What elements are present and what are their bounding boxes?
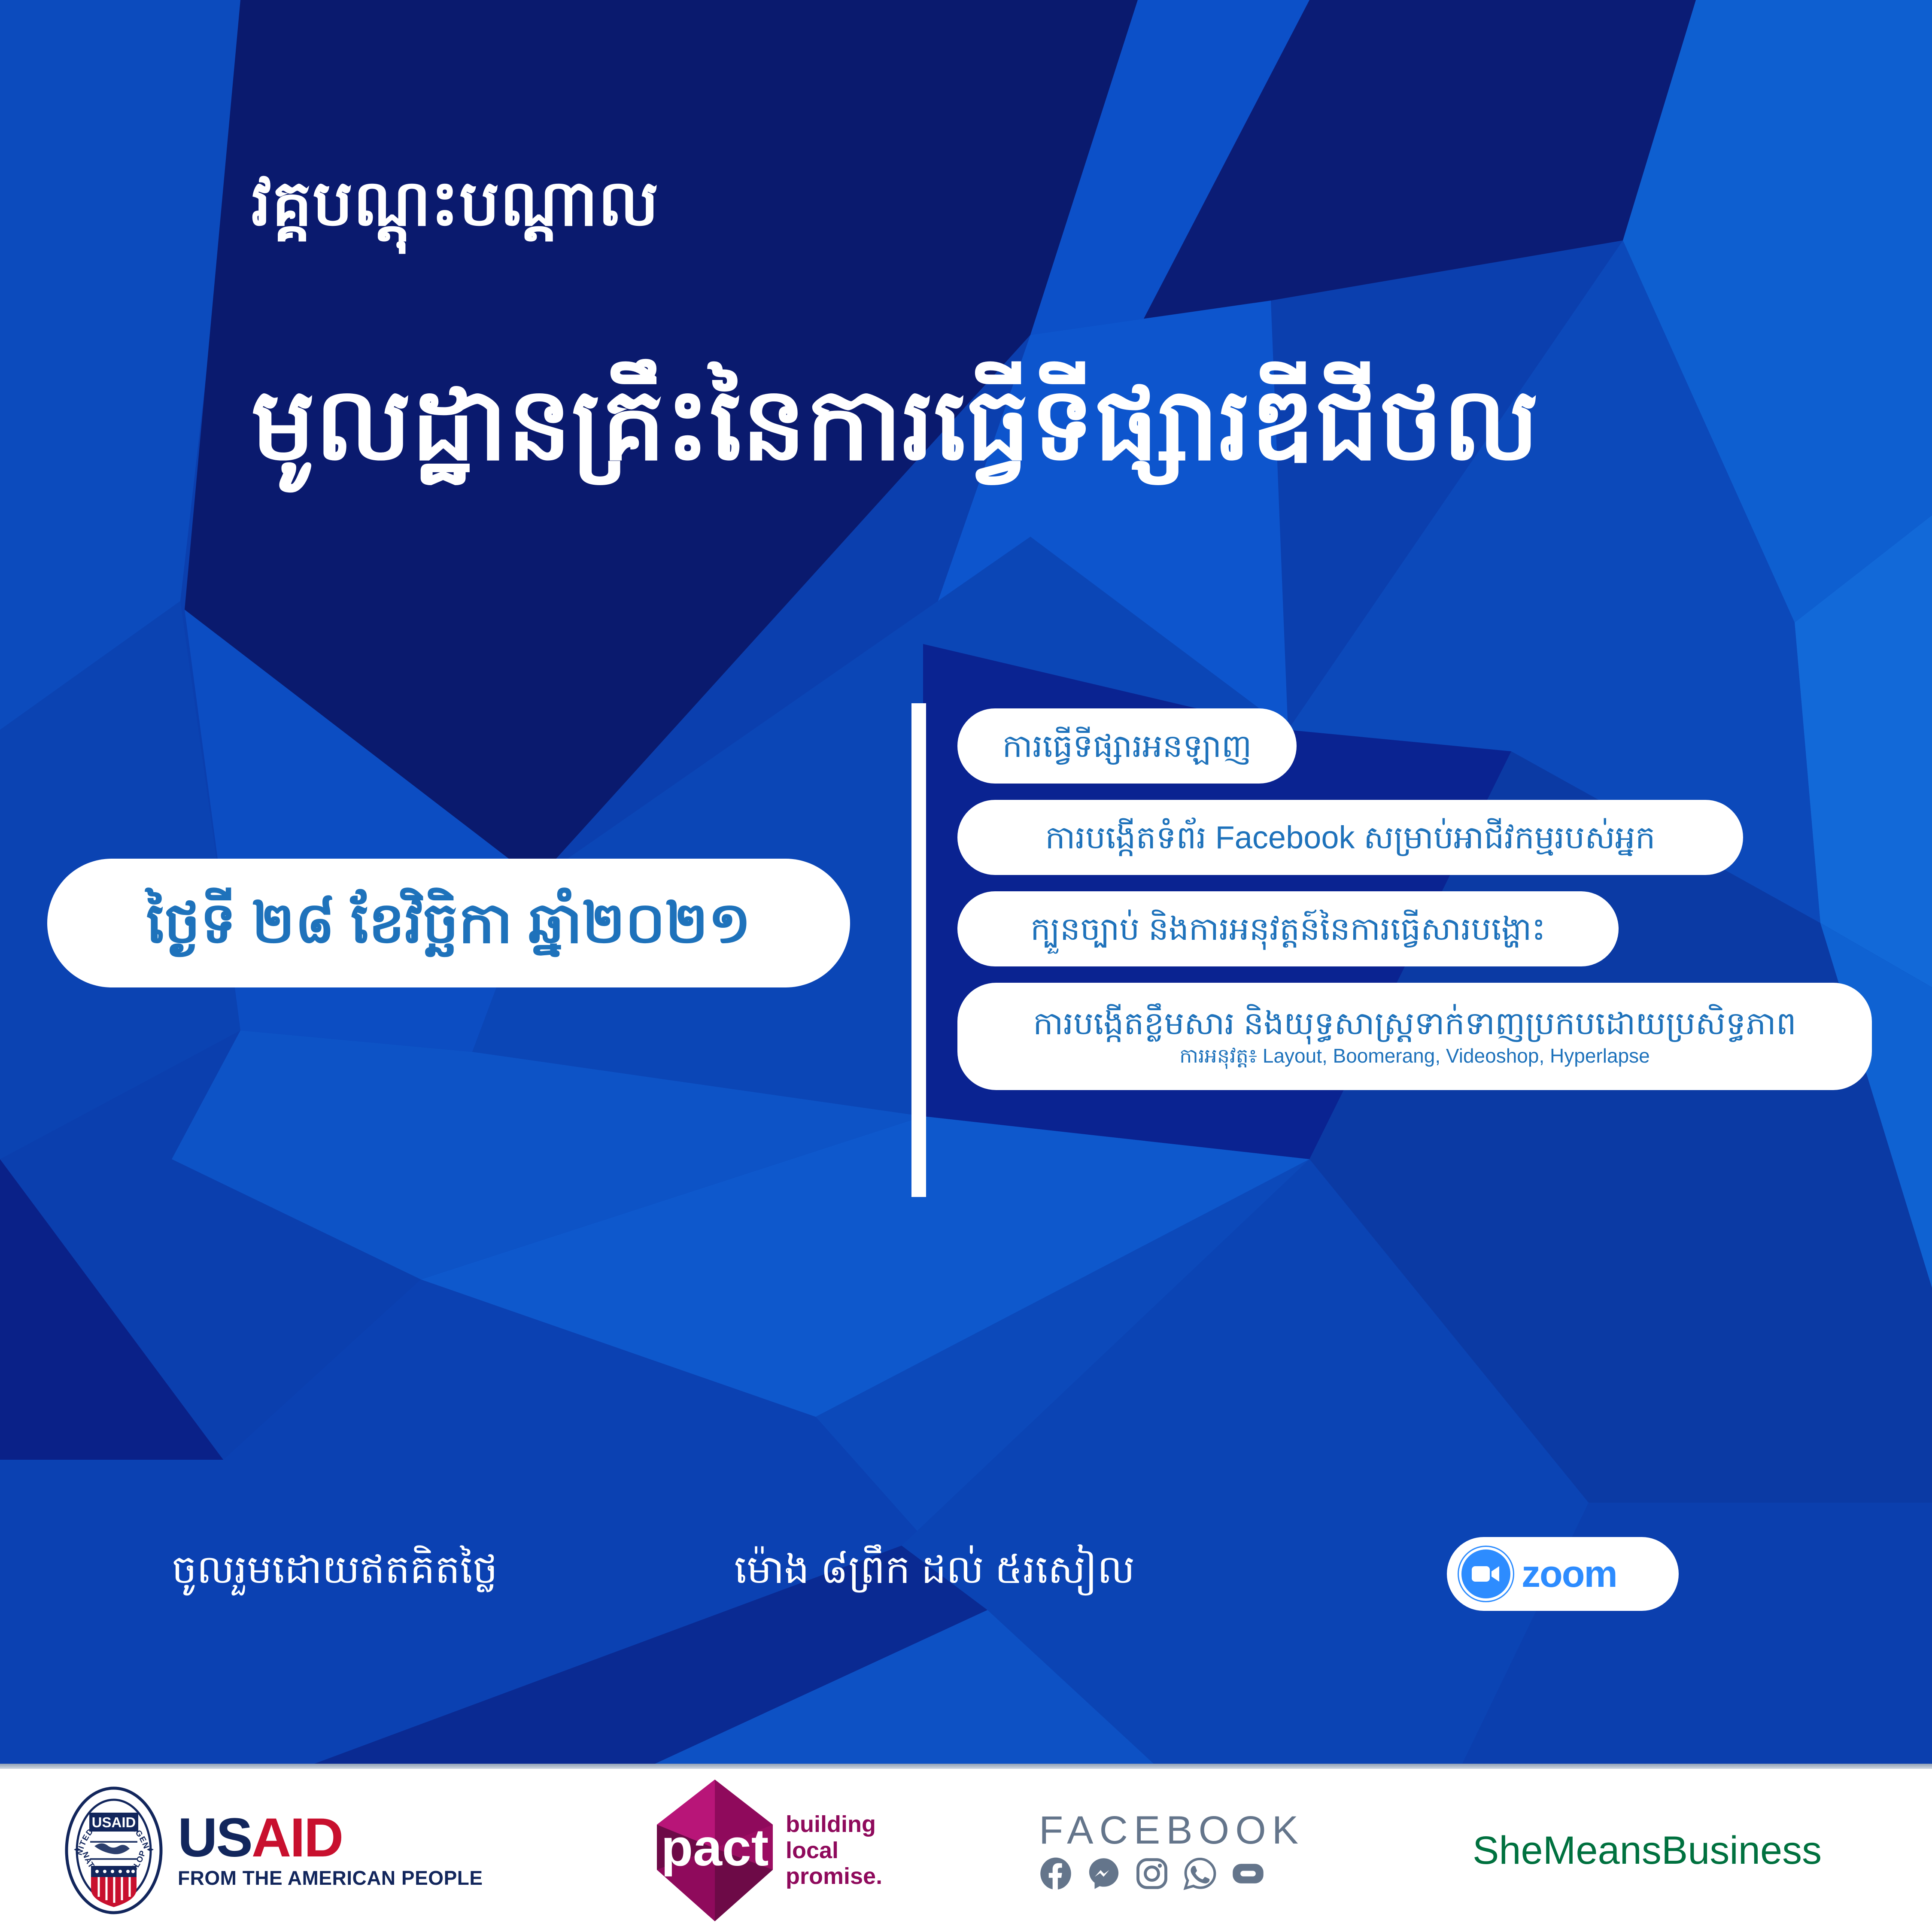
usaid-word-aid: AID bbox=[252, 1807, 342, 1868]
list-item: ក្បួនច្បាប់ និងការអនុវត្តន៍នៃការធ្វើសារប… bbox=[957, 891, 1619, 966]
list-item: ការបង្កើតទំព័រ Facebook សម្រាប់អាជីវកម្ម… bbox=[957, 800, 1743, 875]
facebook-logo-block: FACEBOOK bbox=[1039, 1769, 1304, 1932]
instagram-icon bbox=[1135, 1857, 1169, 1890]
topic-label: ក្បួនច្បាប់ និងការអនុវត្តន៍នៃការធ្វើសារប… bbox=[1030, 911, 1546, 947]
shemeansbusiness-logo: SheMeansBusiness bbox=[1473, 1769, 1822, 1932]
pact-logo: pact building local promise. bbox=[657, 1769, 882, 1932]
usaid-tagline: FROM THE AMERICAN PEOPLE bbox=[178, 1868, 483, 1888]
bullet-divider-bar bbox=[911, 703, 926, 1197]
free-entry-label: ចូលរួមដោយឥតគិតថ្លៃ bbox=[172, 1550, 498, 1589]
topic-sublabel: ការអនុវត្ត៖ Layout, Boomerang, Videoshop… bbox=[1179, 1044, 1649, 1068]
topic-label: ការធ្វើទីផ្សារអនឡាញ bbox=[1002, 728, 1252, 764]
topic-label: ការបង្កើតទំព័រ Facebook សម្រាប់អាជីវកម្ម… bbox=[1045, 819, 1656, 856]
event-date-text: ថ្ងៃទី ២៨ ខែវិច្ឆិកា ឆ្នាំ២០២១ bbox=[146, 895, 751, 951]
svg-text:USAID: USAID bbox=[92, 1814, 136, 1830]
topic-label: ការបង្កើតខ្លឹមសារ និងយុទ្ធសាស្រ្តទាក់ទាញ… bbox=[1033, 1005, 1796, 1042]
video-camera-icon bbox=[1461, 1549, 1510, 1598]
whatsapp-icon bbox=[1183, 1857, 1217, 1890]
poster-root: វគ្គបណ្តុះបណ្តាល មូលដ្ឋានគ្រឹះនៃការធ្វើទ… bbox=[0, 0, 1932, 1932]
shemeansbusiness-wordmark: SheMeansBusiness bbox=[1473, 1831, 1822, 1870]
video-camera-glyph bbox=[1472, 1565, 1500, 1583]
event-date-pill: ថ្ងៃទី ២៨ ខែវិច្ឆិកា ឆ្នាំ២០២១ bbox=[47, 859, 850, 987]
pact-tagline: building local promise. bbox=[786, 1811, 882, 1889]
usaid-wordmark: USAID FROM THE AMERICAN PEOPLE bbox=[178, 1813, 483, 1887]
footer-divider bbox=[0, 1764, 1932, 1769]
pact-diamond-icon: pact bbox=[657, 1780, 773, 1921]
usaid-seal-icon: UNITED STATES AGENCY INTERNATIONAL DEVEL… bbox=[64, 1786, 163, 1915]
pact-tagline-line3: promise. bbox=[786, 1863, 882, 1889]
topic-list: ការធ្វើទីផ្សារអនឡាញ ការបង្កើតទំព័រ Faceb… bbox=[957, 708, 1872, 1106]
messenger-icon bbox=[1087, 1857, 1121, 1890]
pact-wordmark: pact bbox=[661, 1818, 769, 1877]
page-title: មូលដ្ឋានគ្រឹះនៃការធ្វើទីផ្សារឌីជីថល bbox=[251, 374, 1539, 474]
list-item: ការធ្វើទីផ្សារអនឡាញ bbox=[957, 708, 1297, 784]
portal-icon bbox=[1231, 1857, 1265, 1890]
page-kicker: វគ្គបណ្តុះបណ្តាល bbox=[251, 172, 659, 235]
facebook-app-icons bbox=[1039, 1857, 1265, 1890]
facebook-wordmark: FACEBOOK bbox=[1039, 1810, 1304, 1850]
list-item: ការបង្កើតខ្លឹមសារ និងយុទ្ធសាស្រ្តទាក់ទាញ… bbox=[957, 983, 1872, 1090]
zoom-platform-badge: zoom bbox=[1447, 1537, 1679, 1611]
partner-logo-footer: UNITED STATES AGENCY INTERNATIONAL DEVEL… bbox=[0, 1769, 1932, 1932]
usaid-logo: UNITED STATES AGENCY INTERNATIONAL DEVEL… bbox=[64, 1769, 483, 1932]
zoom-wordmark: zoom bbox=[1522, 1555, 1617, 1593]
usaid-word-us: US bbox=[178, 1807, 252, 1868]
pact-tagline-line2: local bbox=[786, 1838, 882, 1863]
facebook-icon bbox=[1039, 1857, 1072, 1890]
event-time-label: ម៉ោង ៨ព្រឹក ដល់ ៥រសៀល bbox=[734, 1550, 1135, 1589]
pact-tagline-line1: building bbox=[786, 1811, 882, 1837]
